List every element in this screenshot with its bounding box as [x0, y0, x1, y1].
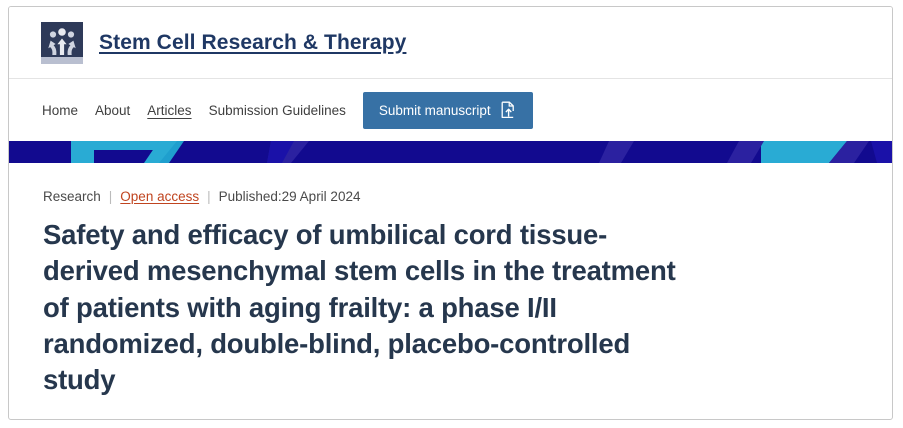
three-people-logo-icon[interactable]	[41, 22, 83, 64]
article-header: Research | Open access | Published:29 Ap…	[9, 163, 892, 398]
nav-item-submission-guidelines[interactable]: Submission Guidelines	[209, 103, 346, 118]
nav-item-about[interactable]: About	[95, 103, 130, 118]
decorative-banner	[9, 141, 892, 163]
published-date-label: Published:29 April 2024	[219, 189, 361, 204]
upload-document-icon	[500, 101, 517, 119]
journal-title-link[interactable]: Stem Cell Research & Therapy	[99, 31, 406, 55]
article-page-frame: Stem Cell Research & Therapy Home About …	[8, 6, 893, 420]
article-meta-line: Research | Open access | Published:29 Ap…	[43, 189, 858, 204]
meta-separator-2: |	[207, 189, 211, 204]
nav-link-list: Home About Articles Submission Guideline…	[42, 103, 346, 118]
article-title: Safety and efficacy of umbilical cord ti…	[43, 217, 683, 398]
submit-manuscript-button[interactable]: Submit manuscript	[363, 92, 533, 129]
primary-navigation: Home About Articles Submission Guideline…	[9, 79, 892, 141]
submit-manuscript-label: Submit manuscript	[379, 103, 491, 118]
nav-item-articles[interactable]: Articles	[147, 103, 191, 118]
logo-base-bar	[41, 57, 83, 64]
nav-item-home[interactable]: Home	[42, 103, 78, 118]
article-type-label: Research	[43, 189, 101, 204]
meta-separator-1: |	[109, 189, 113, 204]
open-access-link[interactable]: Open access	[120, 189, 199, 204]
journal-masthead: Stem Cell Research & Therapy	[9, 7, 892, 79]
